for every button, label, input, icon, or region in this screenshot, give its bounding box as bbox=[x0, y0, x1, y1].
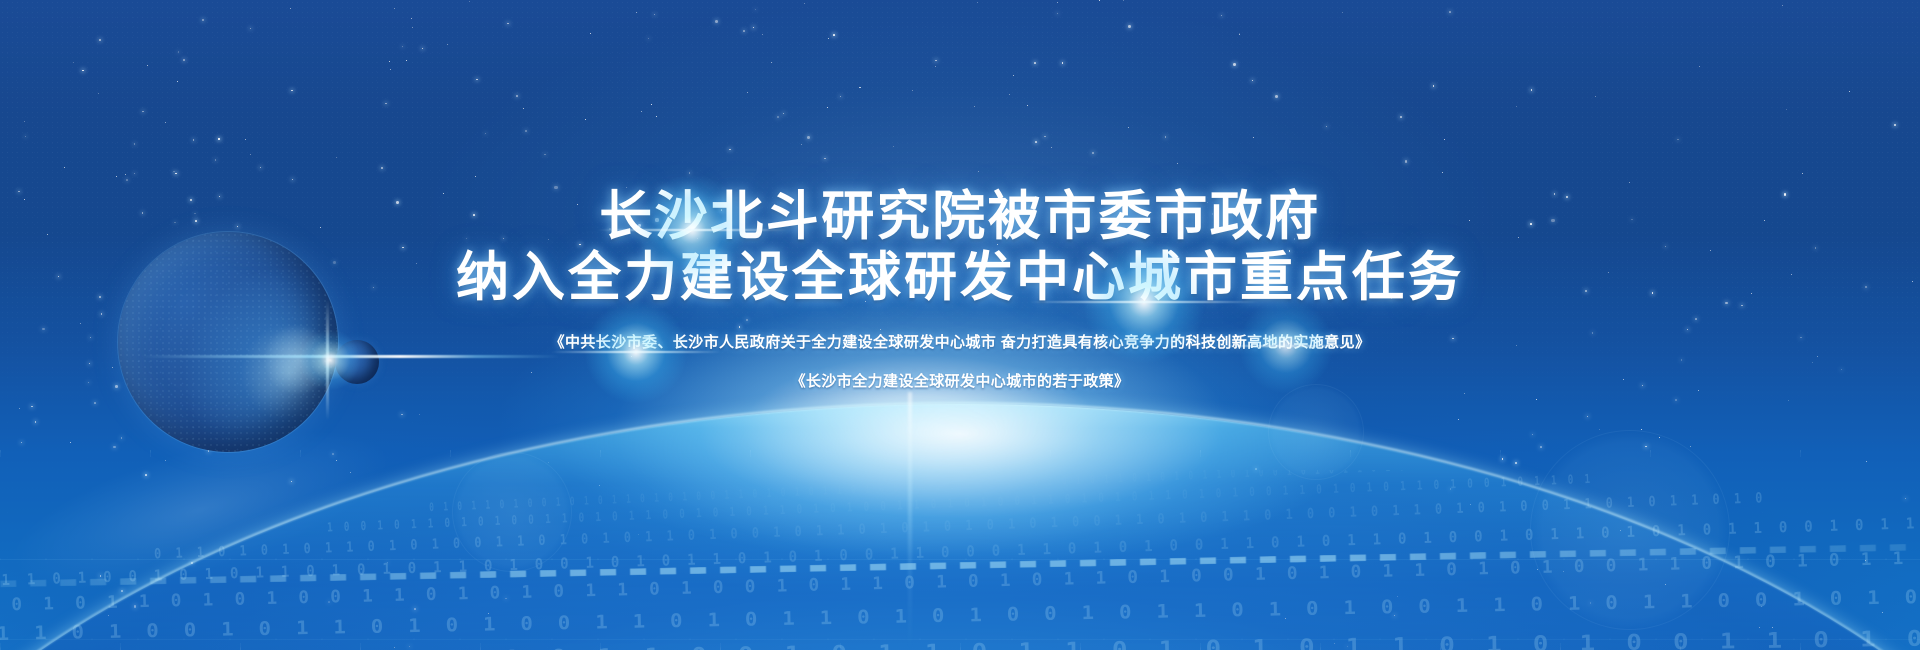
planet-icon bbox=[118, 232, 338, 452]
globe-horizon-icon bbox=[0, 404, 1920, 650]
subtitle-group: 《中共长沙市委、长沙市人民政府关于全力建设全球研发中心城市 奋力打造具有核心竞争… bbox=[550, 330, 1371, 395]
page-title: 长沙北斗研究院被市委市政府 纳入全力建设全球研发中心城市重点任务 bbox=[456, 186, 1464, 308]
subtitle-line-1: 《中共长沙市委、长沙市人民政府关于全力建设全球研发中心城市 奋力打造具有核心竞争… bbox=[550, 330, 1371, 356]
hero-banner: 0 1 0 1 1 0 1 0 0 1 0 1 0 1 1 0 1 0 1 0 … bbox=[0, 0, 1920, 650]
title-line-2: 纳入全力建设全球研发中心城市重点任务 bbox=[456, 247, 1464, 308]
subtitle-line-2: 《长沙市全力建设全球研发中心城市的若于政策》 bbox=[550, 369, 1371, 395]
moon-icon bbox=[335, 340, 379, 384]
title-line-1: 长沙北斗研究院被市委市政府 bbox=[456, 186, 1464, 247]
